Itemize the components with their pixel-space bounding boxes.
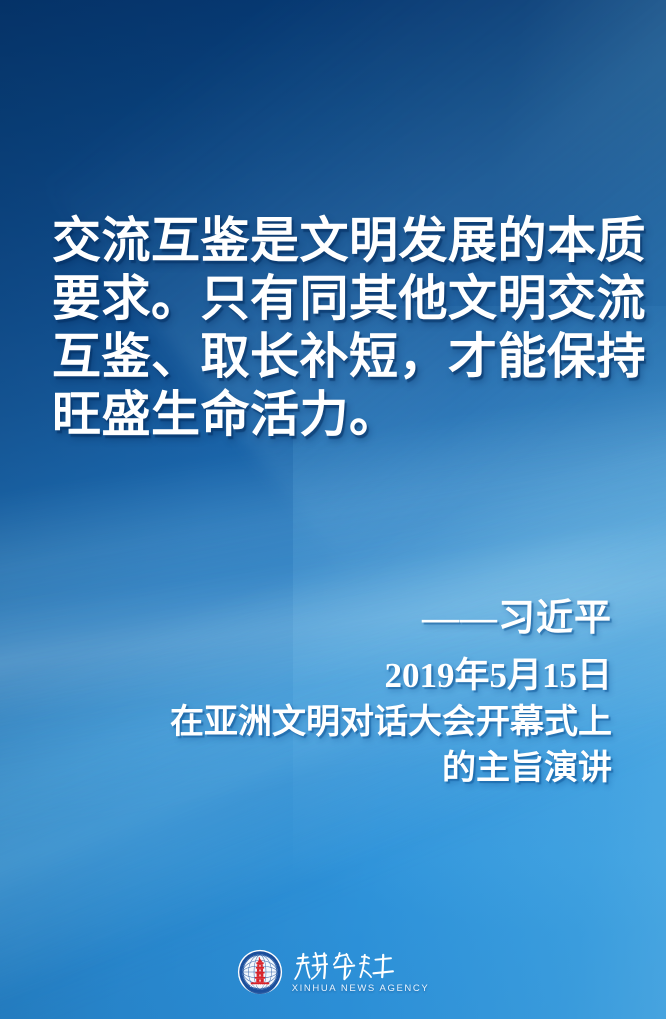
xinhua-pagoda-emblem-icon: XINHUA	[237, 949, 283, 995]
attribution-occasion: 在亚洲文明对话大会开幕式上	[92, 700, 612, 746]
attribution-date: 2019年5月15日	[92, 652, 612, 700]
quote-line-4: 旺盛生命活力。	[52, 386, 622, 444]
svg-text:XINHUA: XINHUA	[250, 983, 270, 988]
xinhua-name-cn	[292, 951, 396, 981]
quote-line-1: 交流互鉴是文明发展的本质	[52, 212, 622, 270]
attribution-author: ——习近平	[92, 596, 612, 642]
poster-content: 交流互鉴是文明发展的本质 要求。只有同其他文明交流 互鉴、取长补短，才能保持 旺…	[0, 0, 666, 1019]
quote-poster: 交流互鉴是文明发展的本质 要求。只有同其他文明交流 互鉴、取长补短，才能保持 旺…	[0, 0, 666, 1019]
quote-block: 交流互鉴是文明发展的本质 要求。只有同其他文明交流 互鉴、取长补短，才能保持 旺…	[52, 212, 622, 444]
quote-line-3: 互鉴、取长补短，才能保持	[52, 328, 622, 386]
xinhua-logo: XINHUA	[0, 949, 666, 995]
attribution-block: ——习近平 2019年5月15日 在亚洲文明对话大会开幕式上 的主旨演讲	[92, 596, 612, 792]
xinhua-name-en: XINHUA NEWS AGENCY	[292, 984, 430, 994]
attribution-speech: 的主旨演讲	[92, 746, 612, 792]
xinhua-wordmark: XINHUA NEWS AGENCY	[292, 951, 430, 994]
quote-line-2: 要求。只有同其他文明交流	[52, 270, 622, 328]
